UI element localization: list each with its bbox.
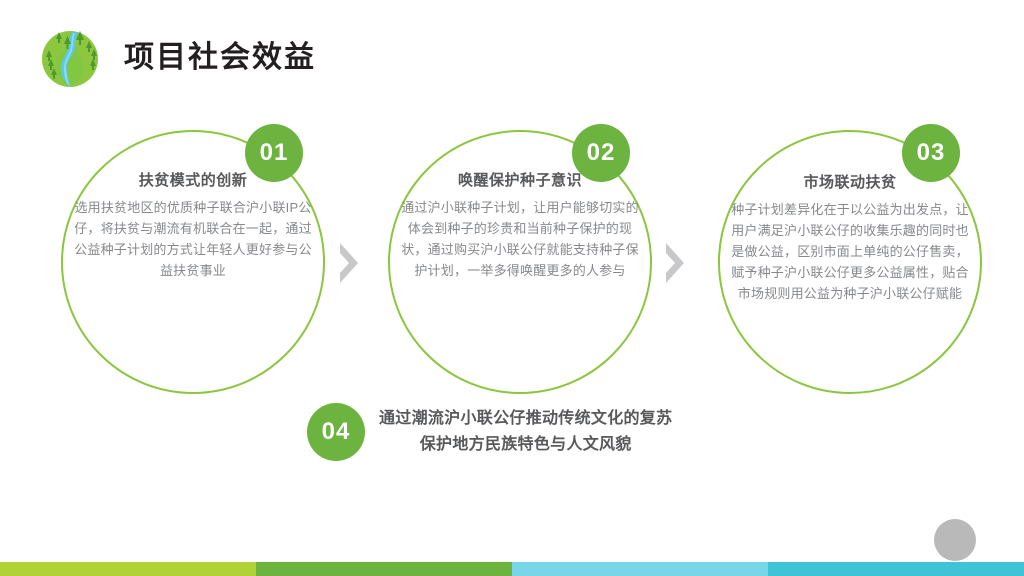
node-badge-3[interactable]: 03	[902, 124, 960, 182]
node-content-2: 唤醒保护种子意识 通过沪小联种子计划，让用户能够切实的体会到种子的珍贵和当前种子…	[400, 172, 640, 281]
node-text-3: 种子计划差异化在于以公益为出发点，让用户满足沪小联公仔的收集乐趣的同时也是做公益…	[730, 199, 970, 304]
decorative-gray-dot	[934, 519, 976, 561]
summary-text-04-line2: 保护地方民族特色与人文风貌	[379, 432, 672, 458]
node-card-2[interactable]: 唤醒保护种子意识 通过沪小联种子计划，让用户能够切实的体会到种子的珍贵和当前种子…	[388, 130, 652, 394]
node-content-3: 市场联动扶贫 种子计划差异化在于以公益为出发点，让用户满足沪小联公仔的收集乐趣的…	[730, 174, 970, 304]
content-stage: 扶贫模式的创新 选用扶贫地区的优质种子联合沪小联IP公仔，将扶贫与潮流有机联合在…	[0, 0, 1024, 576]
summary-text-04: 通过潮流沪小联公仔推动传统文化的复苏 保护地方民族特色与人文风貌	[379, 406, 672, 458]
node-card-3[interactable]: 市场联动扶贫 种子计划差异化在于以公益为出发点，让用户满足沪小联公仔的收集乐趣的…	[718, 130, 982, 394]
node-badge-2[interactable]: 02	[572, 124, 630, 182]
footer-segment-1	[0, 562, 256, 576]
summary-badge-04[interactable]: 04	[307, 403, 365, 461]
summary-text-04-line1: 通过潮流沪小联公仔推动传统文化的复苏	[379, 406, 672, 432]
node-text-1: 选用扶贫地区的优质种子联合沪小联IP公仔，将扶贫与潮流有机联合在一起，通过公益种…	[73, 197, 313, 281]
summary-item-04[interactable]: 04 通过潮流沪小联公仔推动传统文化的复苏 保护地方民族特色与人文风貌	[307, 403, 672, 461]
node-text-2: 通过沪小联种子计划，让用户能够切实的体会到种子的珍贵和当前种子保护的现状，通过购…	[400, 197, 640, 281]
chevron-right-icon-2	[662, 241, 688, 285]
node-badge-1[interactable]: 01	[245, 124, 303, 182]
footer-segment-4	[768, 562, 1024, 576]
footer-color-bar	[0, 562, 1024, 576]
node-card-1[interactable]: 扶贫模式的创新 选用扶贫地区的优质种子联合沪小联IP公仔，将扶贫与潮流有机联合在…	[61, 130, 325, 394]
chevron-right-icon-1	[336, 241, 362, 285]
footer-segment-2	[256, 562, 512, 576]
footer-segment-3	[512, 562, 768, 576]
node-content-1: 扶贫模式的创新 选用扶贫地区的优质种子联合沪小联IP公仔，将扶贫与潮流有机联合在…	[73, 172, 313, 281]
